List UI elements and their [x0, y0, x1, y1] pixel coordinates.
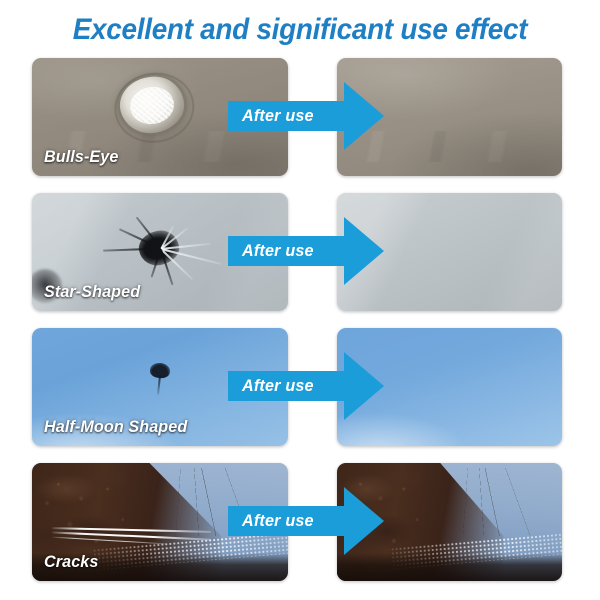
- chip-tail: [157, 375, 161, 395]
- arrow-label: After use: [242, 506, 347, 536]
- after-use-arrow: After use: [228, 217, 384, 285]
- after-use-arrow: After use: [228, 487, 384, 555]
- arrow-head-icon: [344, 82, 384, 150]
- after-use-arrow: After use: [228, 82, 384, 150]
- after-use-arrow: After use: [228, 352, 384, 420]
- arrow-label: After use: [242, 236, 347, 266]
- before-caption: Bulls-Eye: [44, 147, 118, 167]
- comparison-row: Bulls-Eye After use: [0, 58, 600, 176]
- before-caption: Cracks: [44, 552, 98, 572]
- comparison-row: Half-Moon Shaped After use: [0, 328, 600, 446]
- half-moon-chip-icon: [146, 363, 176, 399]
- arrow-head-icon: [344, 352, 384, 420]
- infographic-root: Excellent and significant use effect Bul…: [0, 0, 600, 600]
- comparison-row: Star-Shaped After use: [0, 193, 600, 311]
- comparison-row: Cracks After use: [0, 463, 600, 581]
- crack-line: [53, 531, 212, 540]
- page-title: Excellent and significant use effect: [21, 13, 579, 47]
- crack-lines-icon: [52, 529, 211, 543]
- arrow-label: After use: [242, 371, 347, 401]
- arrow-head-icon: [344, 217, 384, 285]
- arrow-head-icon: [344, 487, 384, 555]
- arrow-label: After use: [242, 101, 347, 131]
- dark-ground: [337, 553, 562, 581]
- before-caption: Half-Moon Shaped: [44, 417, 187, 437]
- bulls-eye-chip-icon: [117, 73, 188, 137]
- before-caption: Star-Shaped: [44, 282, 140, 302]
